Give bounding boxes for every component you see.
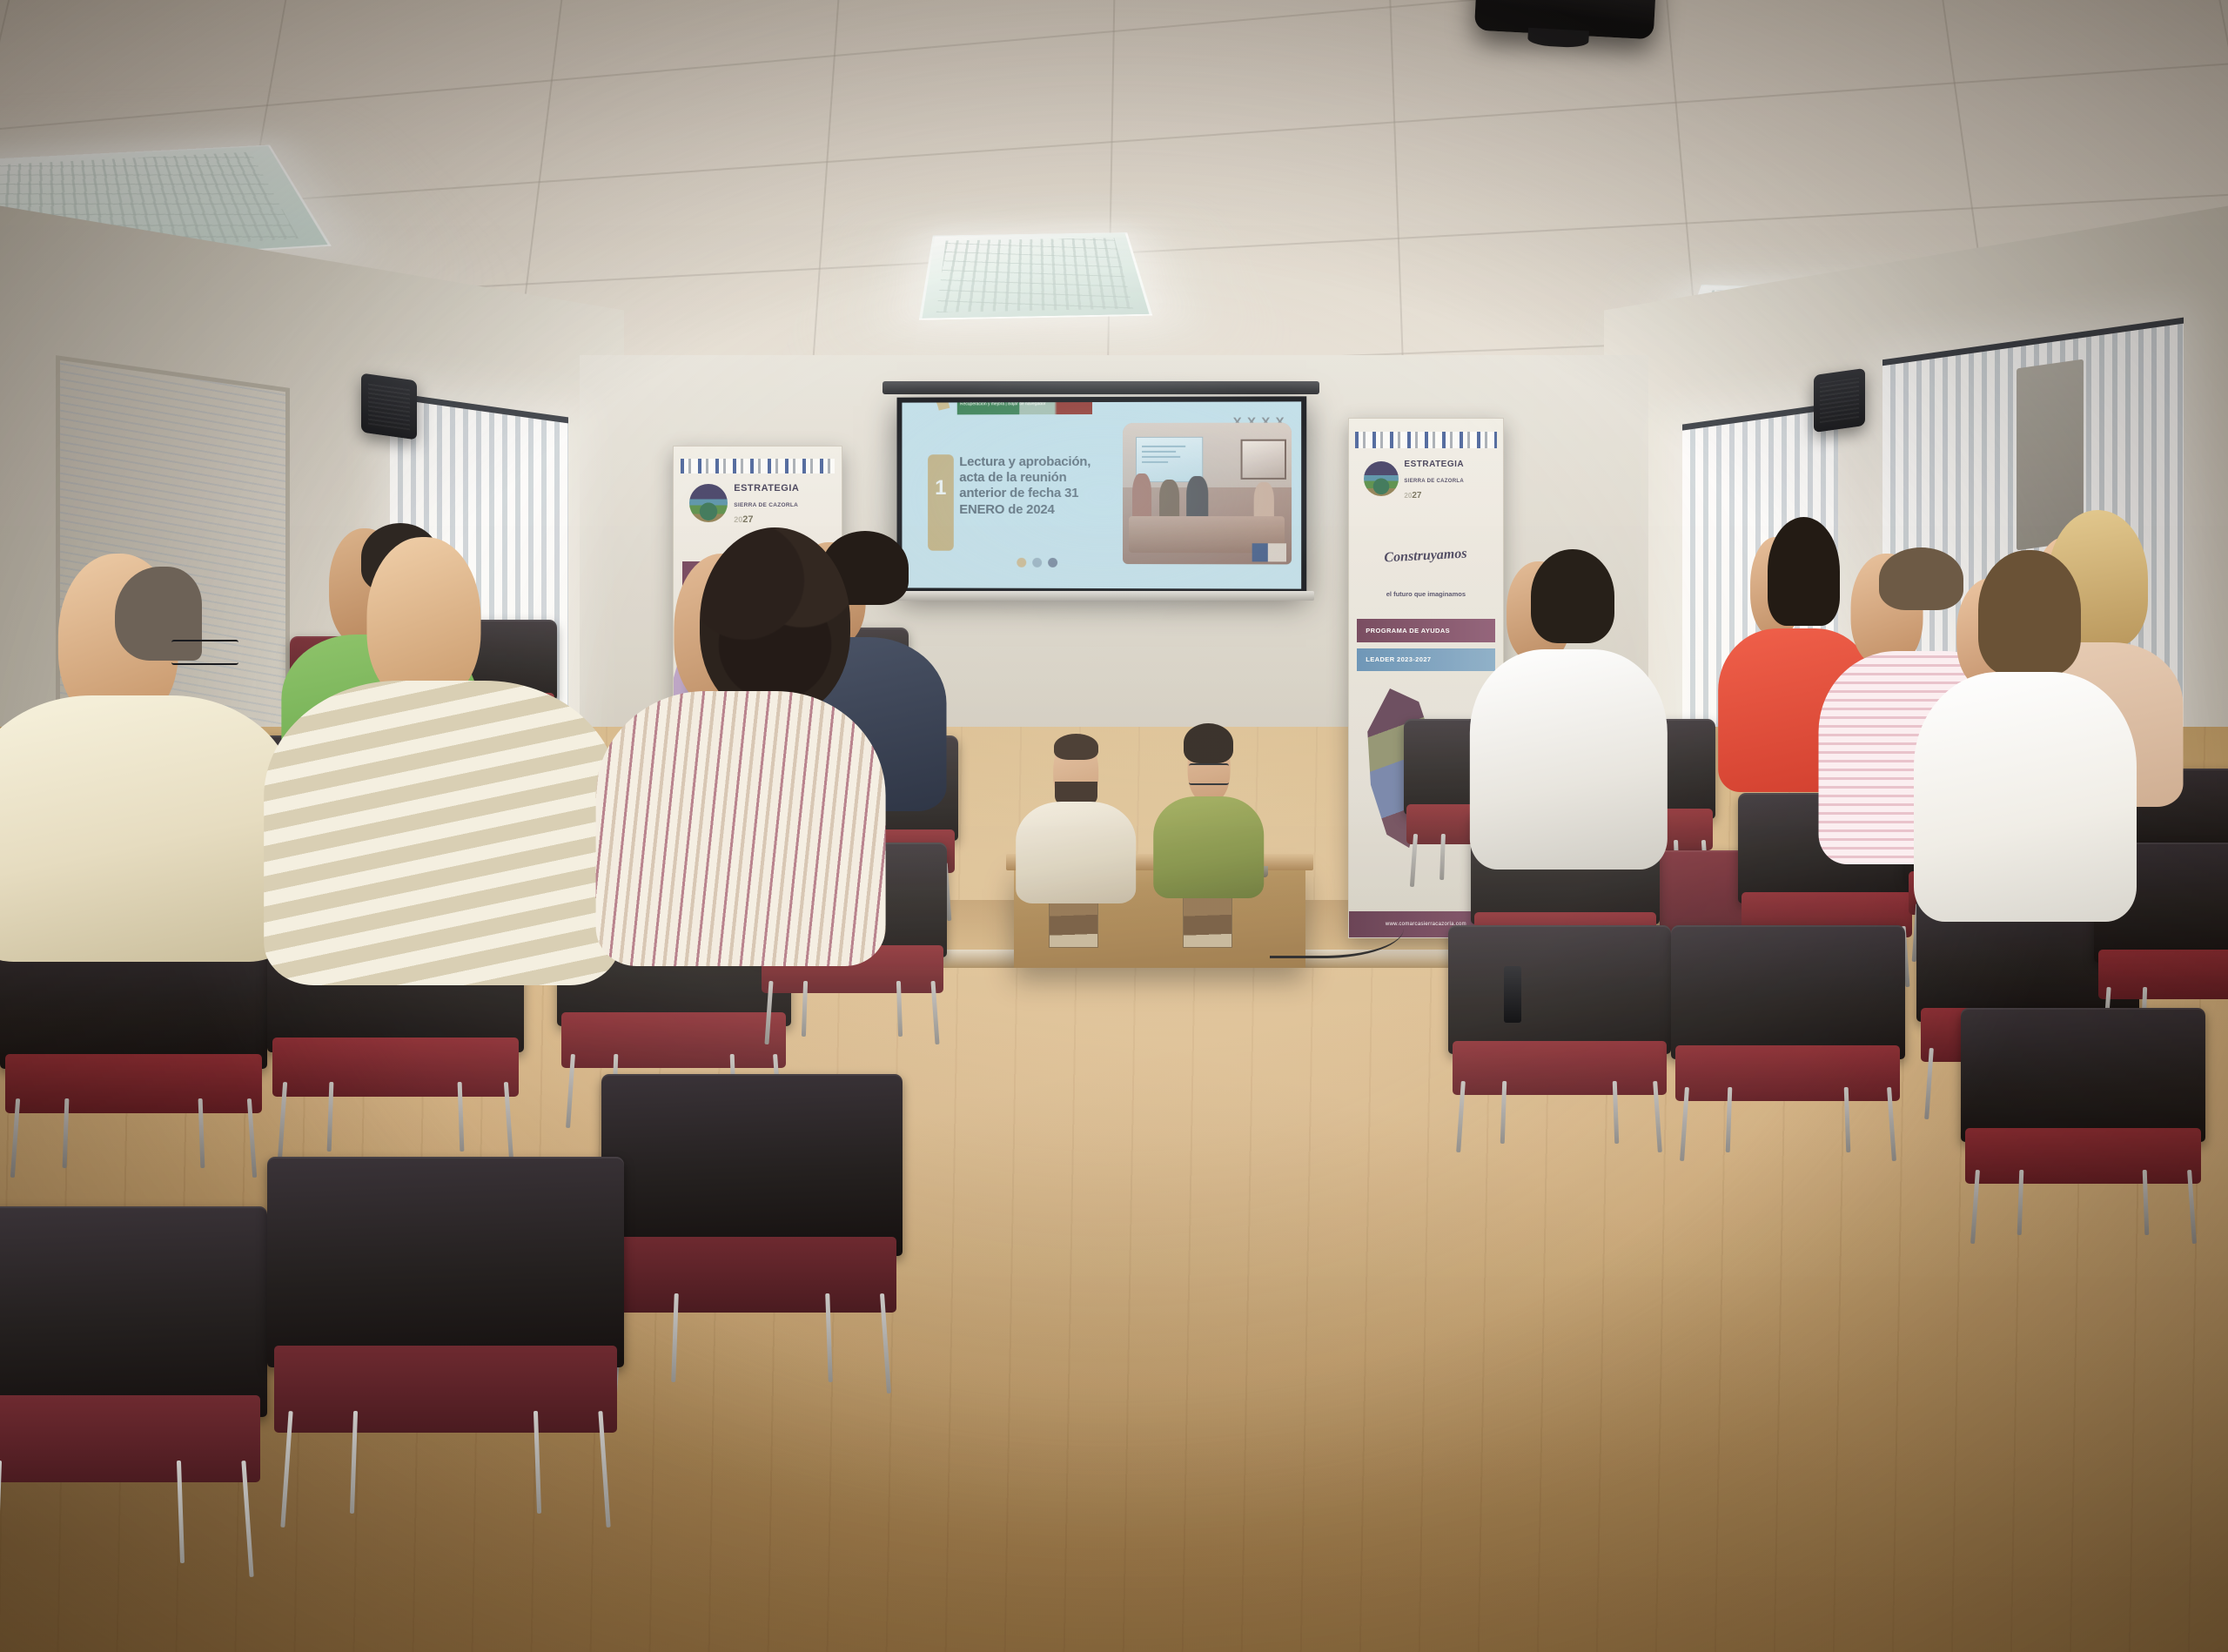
banner-year-bold: 27 (742, 514, 753, 525)
banner-sponsor-logos (681, 459, 835, 473)
conference-room-photo: Recuperación y mejora | Bajar de navegad… (0, 0, 2228, 1652)
attendee-hair (1531, 549, 1614, 643)
chair-foreground[interactable] (267, 1157, 624, 1521)
banner-bar-programa: PROGRAMA DE AYUDAS (1357, 619, 1495, 642)
slide-title-line: ENERO de 2024 (959, 501, 1111, 517)
presenter-left-hair (1054, 734, 1099, 760)
chair-row[interactable] (1671, 925, 1905, 1157)
slide-photo (1123, 422, 1292, 564)
banner-logo-block: ESTRATEGIA SIERRA DE CAZORLA 2027 (1358, 455, 1493, 502)
slide-title-line: acta de la reunión (959, 470, 1111, 486)
banner-year-faint: 20 (1404, 492, 1412, 500)
slide-photo-screen (1240, 439, 1286, 479)
presenter-left-torso (1017, 802, 1137, 904)
chair-row[interactable] (1961, 1008, 2206, 1239)
banner-logo-block: ESTRATEGIA SIERRA DE CAZORLA 2027 (684, 480, 831, 527)
banner-bar-leader: LEADER 2023-2027 (1357, 648, 1495, 671)
slide-title-line: Lectura y aprobación, (959, 453, 1111, 469)
presenter-right-glasses (1189, 763, 1229, 785)
attendee-bald-striped-polo (267, 537, 624, 999)
wall-speaker-right (1814, 368, 1865, 433)
presenter-left (1014, 735, 1138, 901)
projection-screen: Recuperación y mejora | Bajar de navegad… (897, 396, 1307, 594)
attendee-white-shirt (1481, 561, 1671, 876)
attendee-hair-curly (700, 527, 850, 716)
banner-program-title: ESTRATEGIA (1404, 460, 1464, 469)
wall-speaker-left (361, 373, 417, 440)
slide-dot (1032, 558, 1042, 567)
banner-subheadline: el futuro que imaginamos (1361, 590, 1491, 598)
slide-browser-topbar: Recuperación y mejora | Bajar de navegad… (957, 402, 1092, 414)
attendee-torso (0, 695, 295, 962)
slide-dot (1048, 558, 1057, 567)
slide-dot (1017, 558, 1027, 567)
projection-screen-bottom-bar (887, 591, 1315, 601)
slide-title: Lectura y aprobación, acta de la reunión… (959, 453, 1111, 517)
floor-water-bottle (1504, 966, 1521, 1023)
estrategia-emblem-icon (1364, 461, 1399, 497)
attendee-curly-hair-striped-blouse (601, 554, 891, 983)
attendee-head (367, 537, 481, 703)
attendee-torso (264, 681, 621, 986)
presentation-slide: Recuperación y mejora | Bajar de navegad… (903, 401, 1302, 588)
attendee-white-embroidered-blouse (1916, 578, 2139, 925)
banner-sponsor-logos (1355, 432, 1497, 448)
chair-row[interactable] (1448, 925, 1671, 1148)
attendee-glasses (171, 640, 238, 666)
banner-program-title: ESTRATEGIA (734, 483, 799, 494)
slide-progress-dots (1017, 558, 1058, 567)
estrategia-emblem-icon (689, 484, 728, 522)
attendee-torso (1470, 649, 1667, 869)
slide-photo-person (1186, 476, 1208, 521)
chair-foreground[interactable] (601, 1074, 903, 1388)
slide-photo-person (1159, 479, 1179, 521)
banner-year-faint: 20 (734, 515, 742, 524)
attendee-torso (596, 691, 886, 966)
slide-photo-logo (1252, 542, 1286, 561)
chair-foreground[interactable] (0, 1206, 267, 1570)
banner-program-subtitle: SIERRA DE CAZORLA (1404, 479, 1464, 484)
banner-script-headline: Construyamos (1358, 545, 1494, 567)
slide-title-line: anterior de fecha 31 (959, 486, 1111, 501)
banner-year-bold: 27 (1412, 491, 1421, 500)
slide-number: 1 (935, 478, 946, 499)
presenter-right-hair (1184, 723, 1233, 763)
slide-photo-person (1132, 473, 1151, 520)
attendee-torso (1914, 672, 2137, 922)
presenter-right-torso (1153, 796, 1265, 899)
slide-number-badge: 1 (928, 454, 954, 551)
ceiling-light-panel (919, 232, 1152, 320)
projection-screen-roller (882, 381, 1319, 393)
presenter-right (1150, 730, 1268, 896)
banner-program-subtitle: SIERRA DE CAZORLA (734, 502, 798, 508)
attendee-hair-bun (1978, 550, 2081, 675)
